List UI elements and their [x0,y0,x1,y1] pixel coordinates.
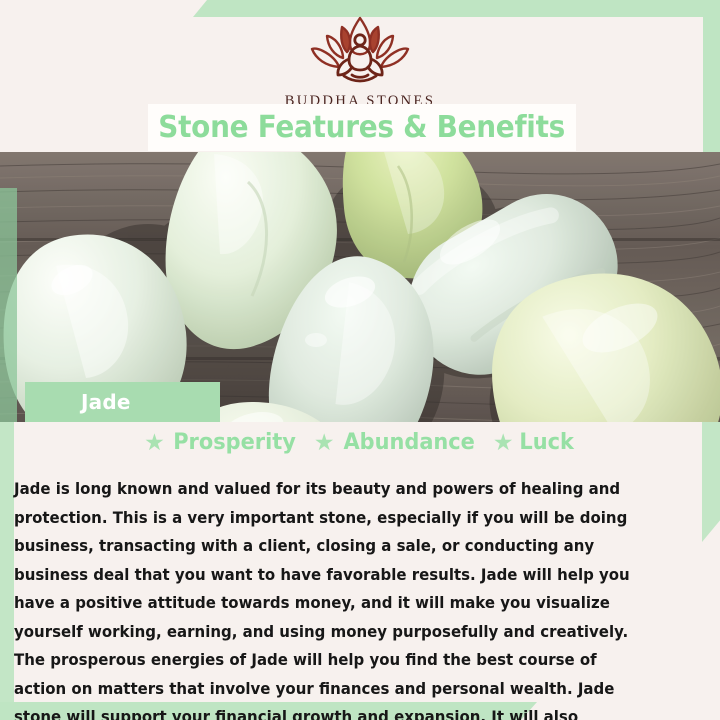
stone-name-badge: Jade [25,382,220,422]
benefit-item: ★ Abundance [314,430,478,455]
benefits-row: ★ Prosperity ★ Abundance ★ Luck [0,430,720,455]
star-icon: ★ [144,431,165,454]
brand-header: BUDDHA STONES [0,14,720,110]
stone-description-text: Jade is long known and valued for its be… [14,475,654,720]
benefit-item: ★ Prosperity [144,430,299,455]
page-title: Stone Features & Benefits [159,110,566,145]
lotus-meditation-figure-icon [0,14,720,91]
star-icon: ★ [314,431,335,454]
benefit-label: Abundance [343,430,474,455]
benefit-label: Prosperity [173,430,296,455]
stone-name-label: Jade [81,390,131,414]
product-info-poster: BUDDHA STONES Stone Features & Benefits [0,0,720,720]
star-icon: ★ [493,431,514,454]
title-band: Stone Features & Benefits [148,104,576,151]
benefit-label: Luck [520,430,574,455]
decor-green-left-body-bar [0,422,14,704]
benefit-item: ★ Luck [493,430,576,455]
decor-green-left-photo-bar [0,188,17,422]
